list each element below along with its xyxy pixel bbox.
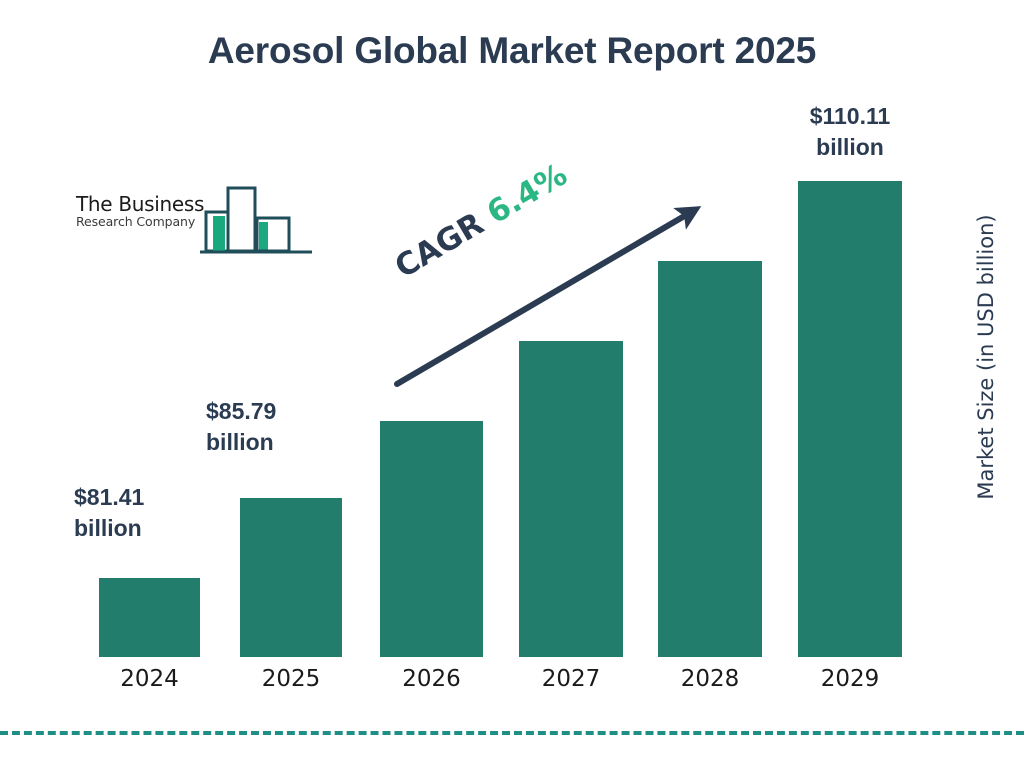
x-axis-label-2028: 2028 xyxy=(658,666,762,692)
footer-divider xyxy=(0,731,1024,735)
cagr-annotation: CAGR 6.4% xyxy=(389,157,573,286)
y-axis-title: Market Size (in USD billion) xyxy=(974,207,998,507)
brand-logo: The Business Research Company xyxy=(72,186,287,256)
bar-2028 xyxy=(658,261,762,657)
cagr-value: 6.4% xyxy=(481,157,573,232)
x-axis-label-2025: 2025 xyxy=(240,666,342,692)
bar-value-2025-unit: billion xyxy=(206,427,366,458)
bar-value-2029-amount: $110.11 xyxy=(810,103,891,129)
bar-chart-logo-icon xyxy=(200,186,355,256)
bar-value-2029: $110.11 billion xyxy=(770,101,930,162)
brand-logo-line2: Research Company xyxy=(76,215,216,228)
x-axis-label-2027: 2027 xyxy=(519,666,623,692)
bar-2029 xyxy=(798,181,902,657)
x-axis-label-2024: 2024 xyxy=(99,666,200,692)
x-axis-label-2029: 2029 xyxy=(798,666,902,692)
chart-canvas: Aerosol Global Market Report 2025 The Bu… xyxy=(0,0,1024,768)
bar-value-2025: $85.79 billion xyxy=(206,396,366,457)
bar-value-2025-amount: $85.79 xyxy=(206,398,276,424)
bar-2024 xyxy=(99,578,200,657)
bar-2025 xyxy=(240,498,342,657)
bar-value-2029-unit: billion xyxy=(770,132,930,163)
bar-value-2024-amount: $81.41 xyxy=(74,484,144,510)
brand-logo-line1: The Business xyxy=(76,194,216,215)
x-axis-label-2026: 2026 xyxy=(380,666,483,692)
cagr-label: CAGR xyxy=(389,206,490,286)
page-title: Aerosol Global Market Report 2025 xyxy=(0,30,1024,72)
bar-2026 xyxy=(380,421,483,657)
brand-logo-text: The Business Research Company xyxy=(76,194,216,228)
bar-2027 xyxy=(519,341,623,657)
bar-value-2024-unit: billion xyxy=(74,513,224,544)
bar-value-2024: $81.41 billion xyxy=(74,482,224,543)
